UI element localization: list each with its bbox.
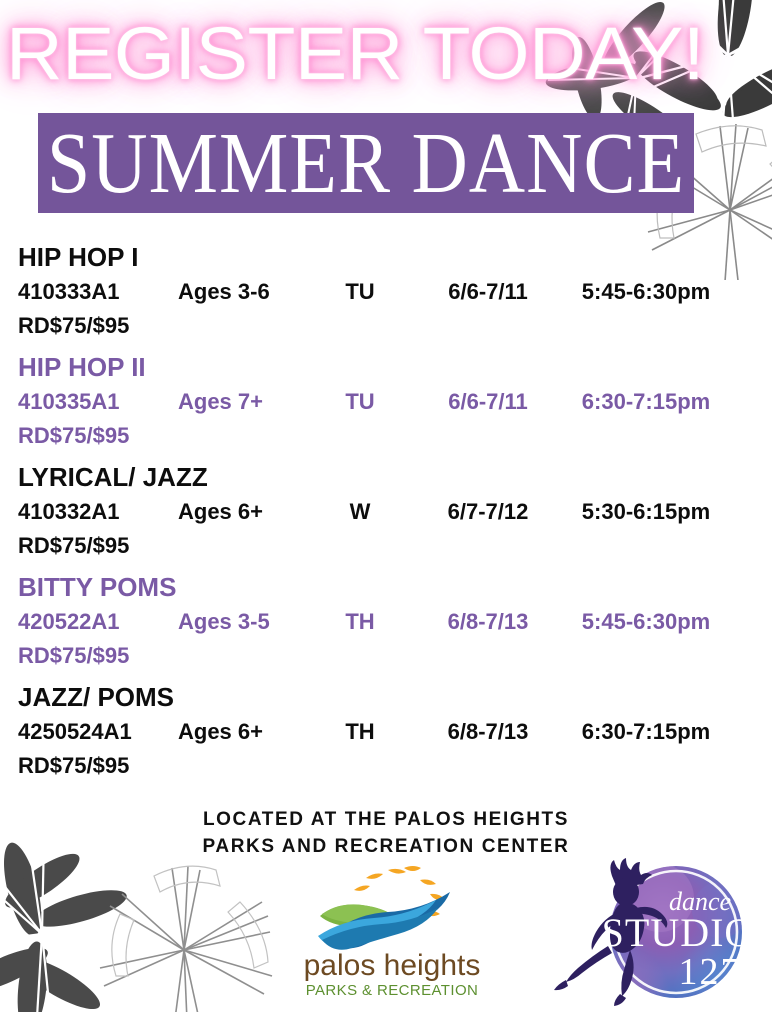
class-time: 6:30-7:15pm	[560, 384, 732, 420]
class-block: LYRICAL/ JAZZ 410332A1 Ages 6+ W 6/7-7/1…	[0, 460, 772, 562]
class-block: JAZZ/ POMS 4250524A1 Ages 6+ TH 6/8-7/13…	[0, 680, 772, 782]
studio-number-text: 127	[679, 951, 742, 993]
class-time: 5:30-6:15pm	[560, 494, 732, 530]
class-dates: 6/8-7/13	[418, 714, 558, 750]
class-dates: 6/6-7/11	[418, 274, 558, 310]
class-ages: Ages 3-5	[178, 604, 308, 640]
class-block: HIP HOP I 410333A1 Ages 3-6 TU 6/6-7/11 …	[0, 240, 772, 342]
location-line-2: PARKS AND RECREATION CENTER	[0, 833, 772, 860]
class-title: HIP HOP II	[18, 350, 772, 384]
class-row: 420522A1 Ages 3-5 TH 6/8-7/13 5:45-6:30p…	[0, 604, 772, 640]
class-dates: 6/6-7/11	[418, 384, 558, 420]
palos-heights-name: palos heights	[292, 950, 492, 982]
class-title: BITTY POMS	[18, 570, 772, 604]
class-code: 410332A1	[18, 494, 120, 530]
class-row: 4250524A1 Ages 6+ TH 6/8-7/13 6:30-7:15p…	[0, 714, 772, 750]
class-code: 420522A1	[18, 604, 120, 640]
class-block: BITTY POMS 420522A1 Ages 3-5 TH 6/8-7/13…	[0, 570, 772, 672]
pinwheel-burst-outline-icon	[88, 862, 298, 1012]
class-ages: Ages 6+	[178, 494, 308, 530]
class-title: JAZZ/ POMS	[18, 680, 772, 714]
class-dates: 6/8-7/13	[418, 604, 558, 640]
class-fee: RD$75/$95	[18, 640, 772, 672]
class-title: LYRICAL/ JAZZ	[18, 460, 772, 494]
class-time: 5:45-6:30pm	[560, 274, 732, 310]
summer-dance-banner: SUMMER DANCE	[38, 113, 694, 213]
banner-title: SUMMER DANCE	[38, 107, 694, 219]
studio-text: STUDIO	[602, 910, 755, 955]
class-fee: RD$75/$95	[18, 310, 772, 342]
class-time: 6:30-7:15pm	[560, 714, 732, 750]
headline-text: REGISTER TODAY!	[6, 8, 663, 100]
class-time: 5:45-6:30pm	[560, 604, 732, 640]
palos-heights-subtitle: PARKS & RECREATION	[292, 982, 492, 1000]
class-block: HIP HOP II 410335A1 Ages 7+ TU 6/6-7/11 …	[0, 350, 772, 452]
location-text: LOCATED AT THE PALOS HEIGHTS PARKS AND R…	[0, 806, 772, 860]
class-dates: 6/7-7/12	[418, 494, 558, 530]
class-fee: RD$75/$95	[18, 750, 772, 782]
class-ages: Ages 3-6	[178, 274, 308, 310]
class-code: 410335A1	[18, 384, 120, 420]
class-fee: RD$75/$95	[18, 420, 772, 452]
class-code: 410333A1	[18, 274, 120, 310]
class-day: TU	[330, 384, 390, 420]
class-fee: RD$75/$95	[18, 530, 772, 562]
class-day: W	[330, 494, 390, 530]
headline-register-today: REGISTER TODAY!	[6, 8, 626, 100]
dance-studio-127-logo: dance STUDIO 127	[548, 858, 768, 1008]
palos-heights-mark-icon	[292, 866, 492, 952]
class-list: HIP HOP I 410333A1 Ages 3-6 TU 6/6-7/11 …	[0, 240, 772, 790]
location-line-1: LOCATED AT THE PALOS HEIGHTS	[0, 806, 772, 833]
class-code: 4250524A1	[18, 714, 132, 750]
class-ages: Ages 7+	[178, 384, 308, 420]
class-row: 410332A1 Ages 6+ W 6/7-7/12 5:30-6:15pm	[0, 494, 772, 530]
palos-heights-logo: palos heights PARKS & RECREATION	[292, 866, 492, 998]
class-day: TU	[330, 274, 390, 310]
class-row: 410335A1 Ages 7+ TU 6/6-7/11 6:30-7:15pm	[0, 384, 772, 420]
class-day: TH	[330, 604, 390, 640]
class-row: 410333A1 Ages 3-6 TU 6/6-7/11 5:45-6:30p…	[0, 274, 772, 310]
class-day: TH	[330, 714, 390, 750]
class-title: HIP HOP I	[18, 240, 772, 274]
pinwheel-burst-icon	[0, 838, 206, 1012]
flyer-canvas: REGISTER TODAY! SUMMER DANCE HIP HOP I 4…	[0, 0, 772, 1012]
class-ages: Ages 6+	[178, 714, 308, 750]
